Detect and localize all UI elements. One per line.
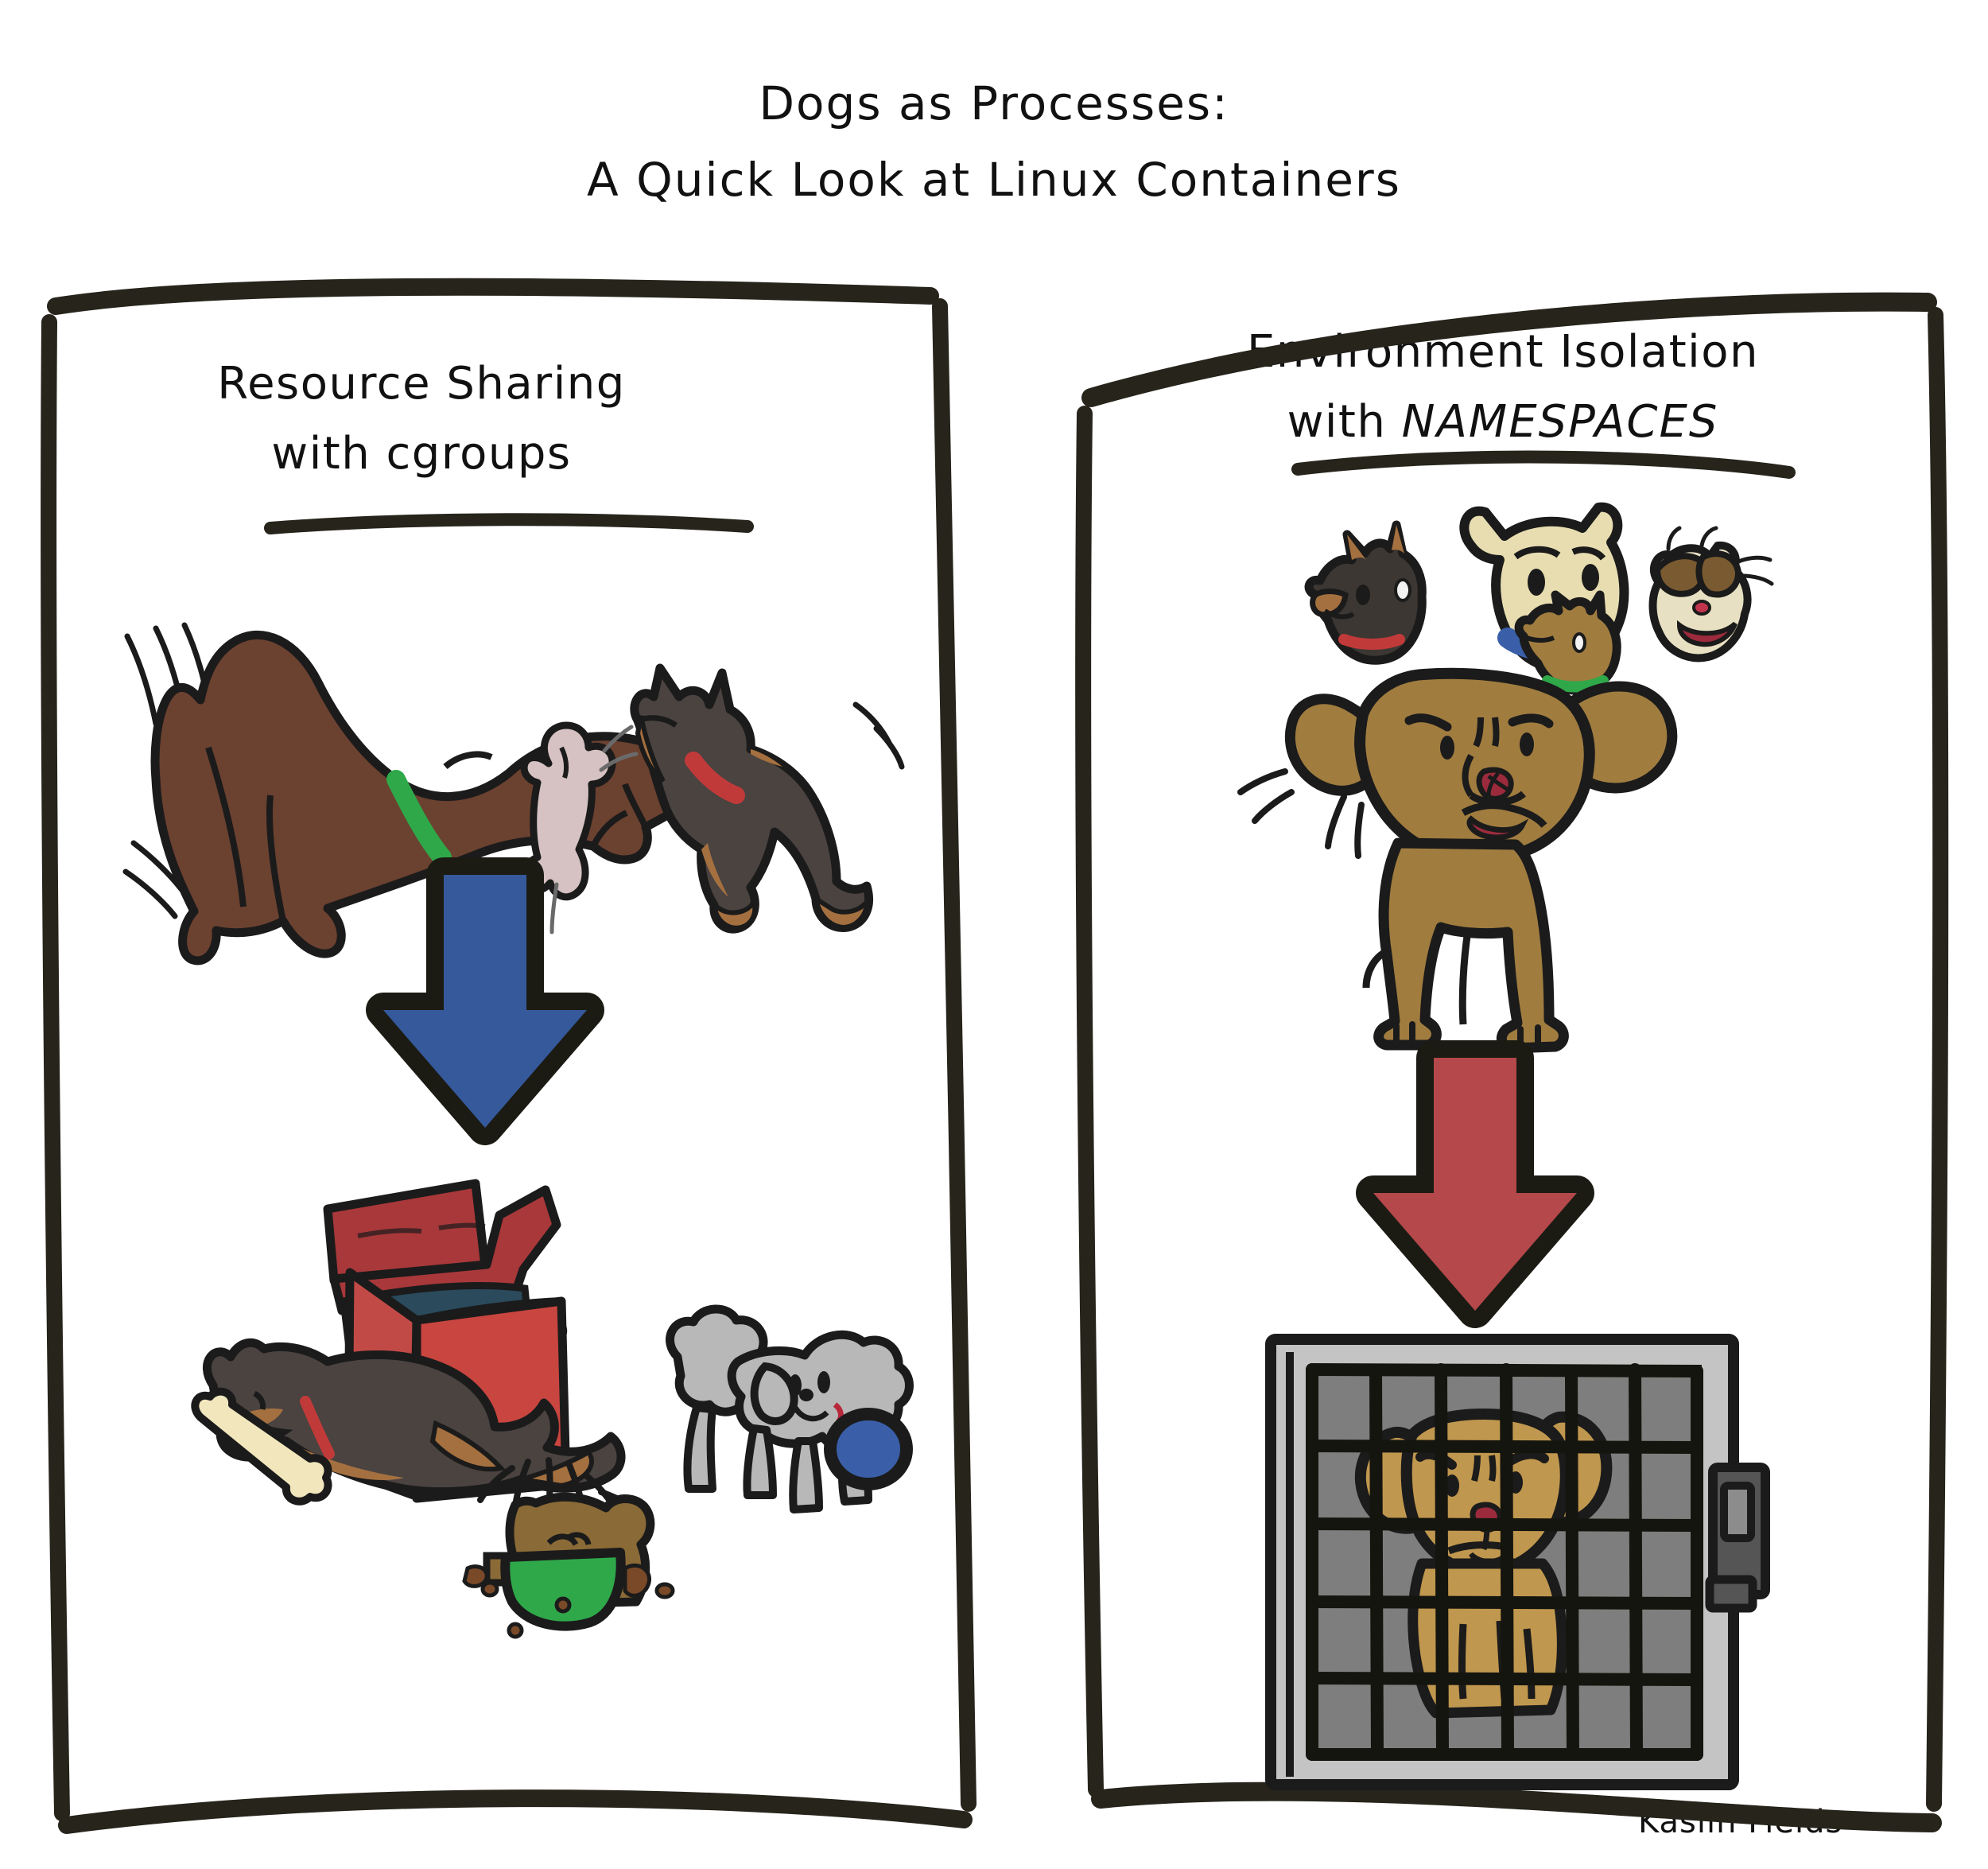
scene-dog-heads	[1241, 507, 1772, 1048]
angry-brown-dog	[1241, 674, 1672, 1048]
food-bowl	[487, 1552, 621, 1626]
down-arrow-red	[1373, 1058, 1577, 1311]
bulldog-head	[1653, 528, 1773, 658]
scene-dogs-sharing	[195, 1183, 909, 1637]
cgroups-heading-underline	[270, 519, 747, 528]
doberman-tugging	[635, 668, 902, 929]
scene-dog-in-crate	[1271, 1339, 1765, 1785]
down-arrow-blue	[383, 875, 587, 1128]
comic-canvas: Dogs as Processes: A Quick Look at Linux…	[0, 0, 1988, 1869]
doberman-head	[1309, 525, 1422, 660]
namespaces-heading-underline	[1298, 457, 1789, 472]
crate-latch[interactable]	[1710, 1467, 1765, 1608]
ball	[830, 1414, 907, 1484]
